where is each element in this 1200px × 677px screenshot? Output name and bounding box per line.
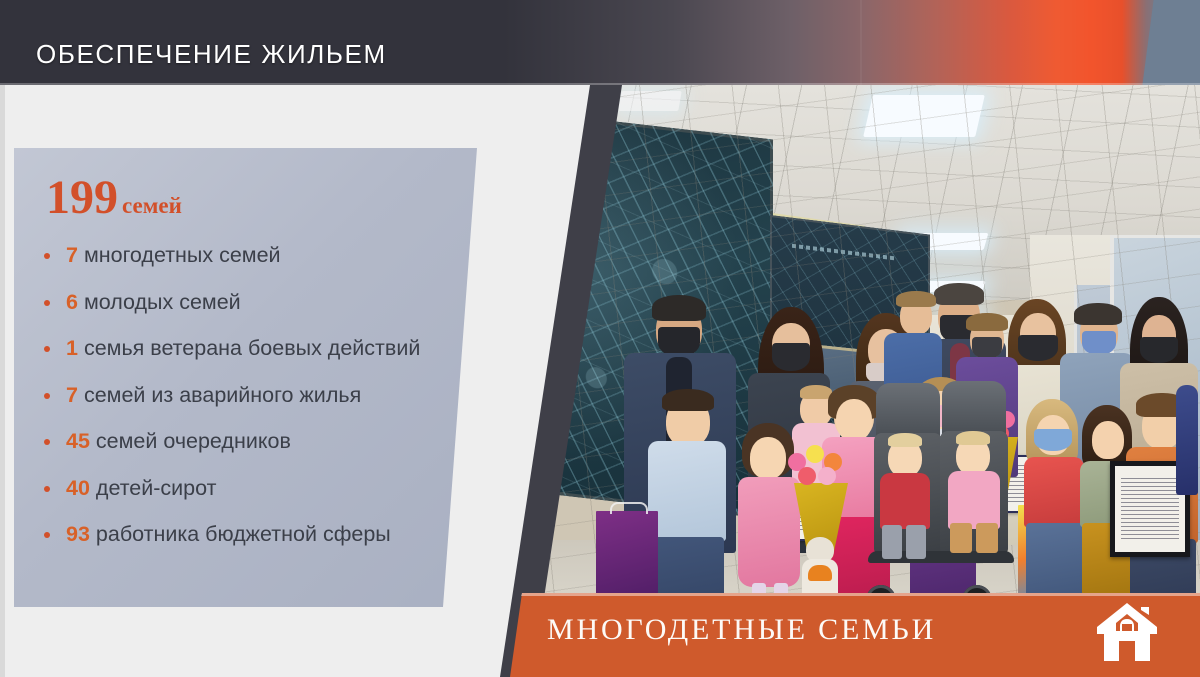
bullet-dot-icon: [44, 253, 50, 259]
list-item: 45 семей очередников: [40, 430, 460, 453]
list-item-number: 40: [66, 476, 90, 500]
bullet-dot-icon: [44, 346, 50, 352]
highlight-number: 199: [46, 171, 118, 224]
list-item-number: 6: [66, 290, 78, 314]
header-right-wedge: [1120, 0, 1200, 85]
bullet-dot-icon: [44, 393, 50, 399]
list-item-label: молодых семей: [84, 290, 241, 314]
list-item: 40 детей-сирот: [40, 477, 460, 500]
list-item-label: работника бюджетной сферы: [96, 522, 391, 546]
statistics-list: 7 многодетных семей 6 молодых семей 1 се…: [40, 244, 460, 570]
list-item: 93 работника бюджетной сферы: [40, 523, 460, 546]
highlight-unit: семей: [122, 193, 182, 218]
bullet-dot-icon: [44, 532, 50, 538]
slide-header: ОБЕСПЕЧЕНИЕ ЖИЛЬЕМ: [0, 0, 1200, 85]
list-item: 1 семья ветерана боевых действий: [40, 337, 460, 360]
bullet-dot-icon: [44, 439, 50, 445]
list-item-label: детей-сирот: [96, 476, 217, 500]
statistics-panel: 199семей 7 многодетных семей 6 молодых с…: [14, 148, 477, 607]
house-icon: [1093, 601, 1161, 663]
presentation-slide: Ы: [0, 0, 1200, 677]
list-item: 7 многодетных семей: [40, 244, 460, 267]
list-item-number: 1: [66, 336, 78, 360]
list-item: 7 семей из аварийного жилья: [40, 384, 460, 407]
list-item-number: 93: [66, 522, 90, 546]
list-item-number: 45: [66, 429, 90, 453]
bullet-dot-icon: [44, 486, 50, 492]
bullet-dot-icon: [44, 300, 50, 306]
list-item-label: семей очередников: [96, 429, 291, 453]
header-seam: [860, 0, 862, 85]
list-item-label: семей из аварийного жилья: [84, 383, 361, 407]
list-item-number: 7: [66, 243, 78, 267]
list-item-label: многодетных семей: [84, 243, 281, 267]
caption-bar-topline: [470, 593, 1200, 596]
caption-text: МНОГОДЕТНЫЕ СЕМЬИ: [547, 613, 936, 647]
list-item-number: 7: [66, 383, 78, 407]
list-item-label: семья ветерана боевых действий: [84, 336, 420, 360]
highlight-total: 199семей: [46, 170, 182, 225]
page-title: ОБЕСПЕЧЕНИЕ ЖИЛЬЕМ: [36, 39, 387, 70]
left-edge-strip: [0, 85, 5, 677]
header-underline: [0, 83, 1200, 85]
list-item: 6 молодых семей: [40, 291, 460, 314]
